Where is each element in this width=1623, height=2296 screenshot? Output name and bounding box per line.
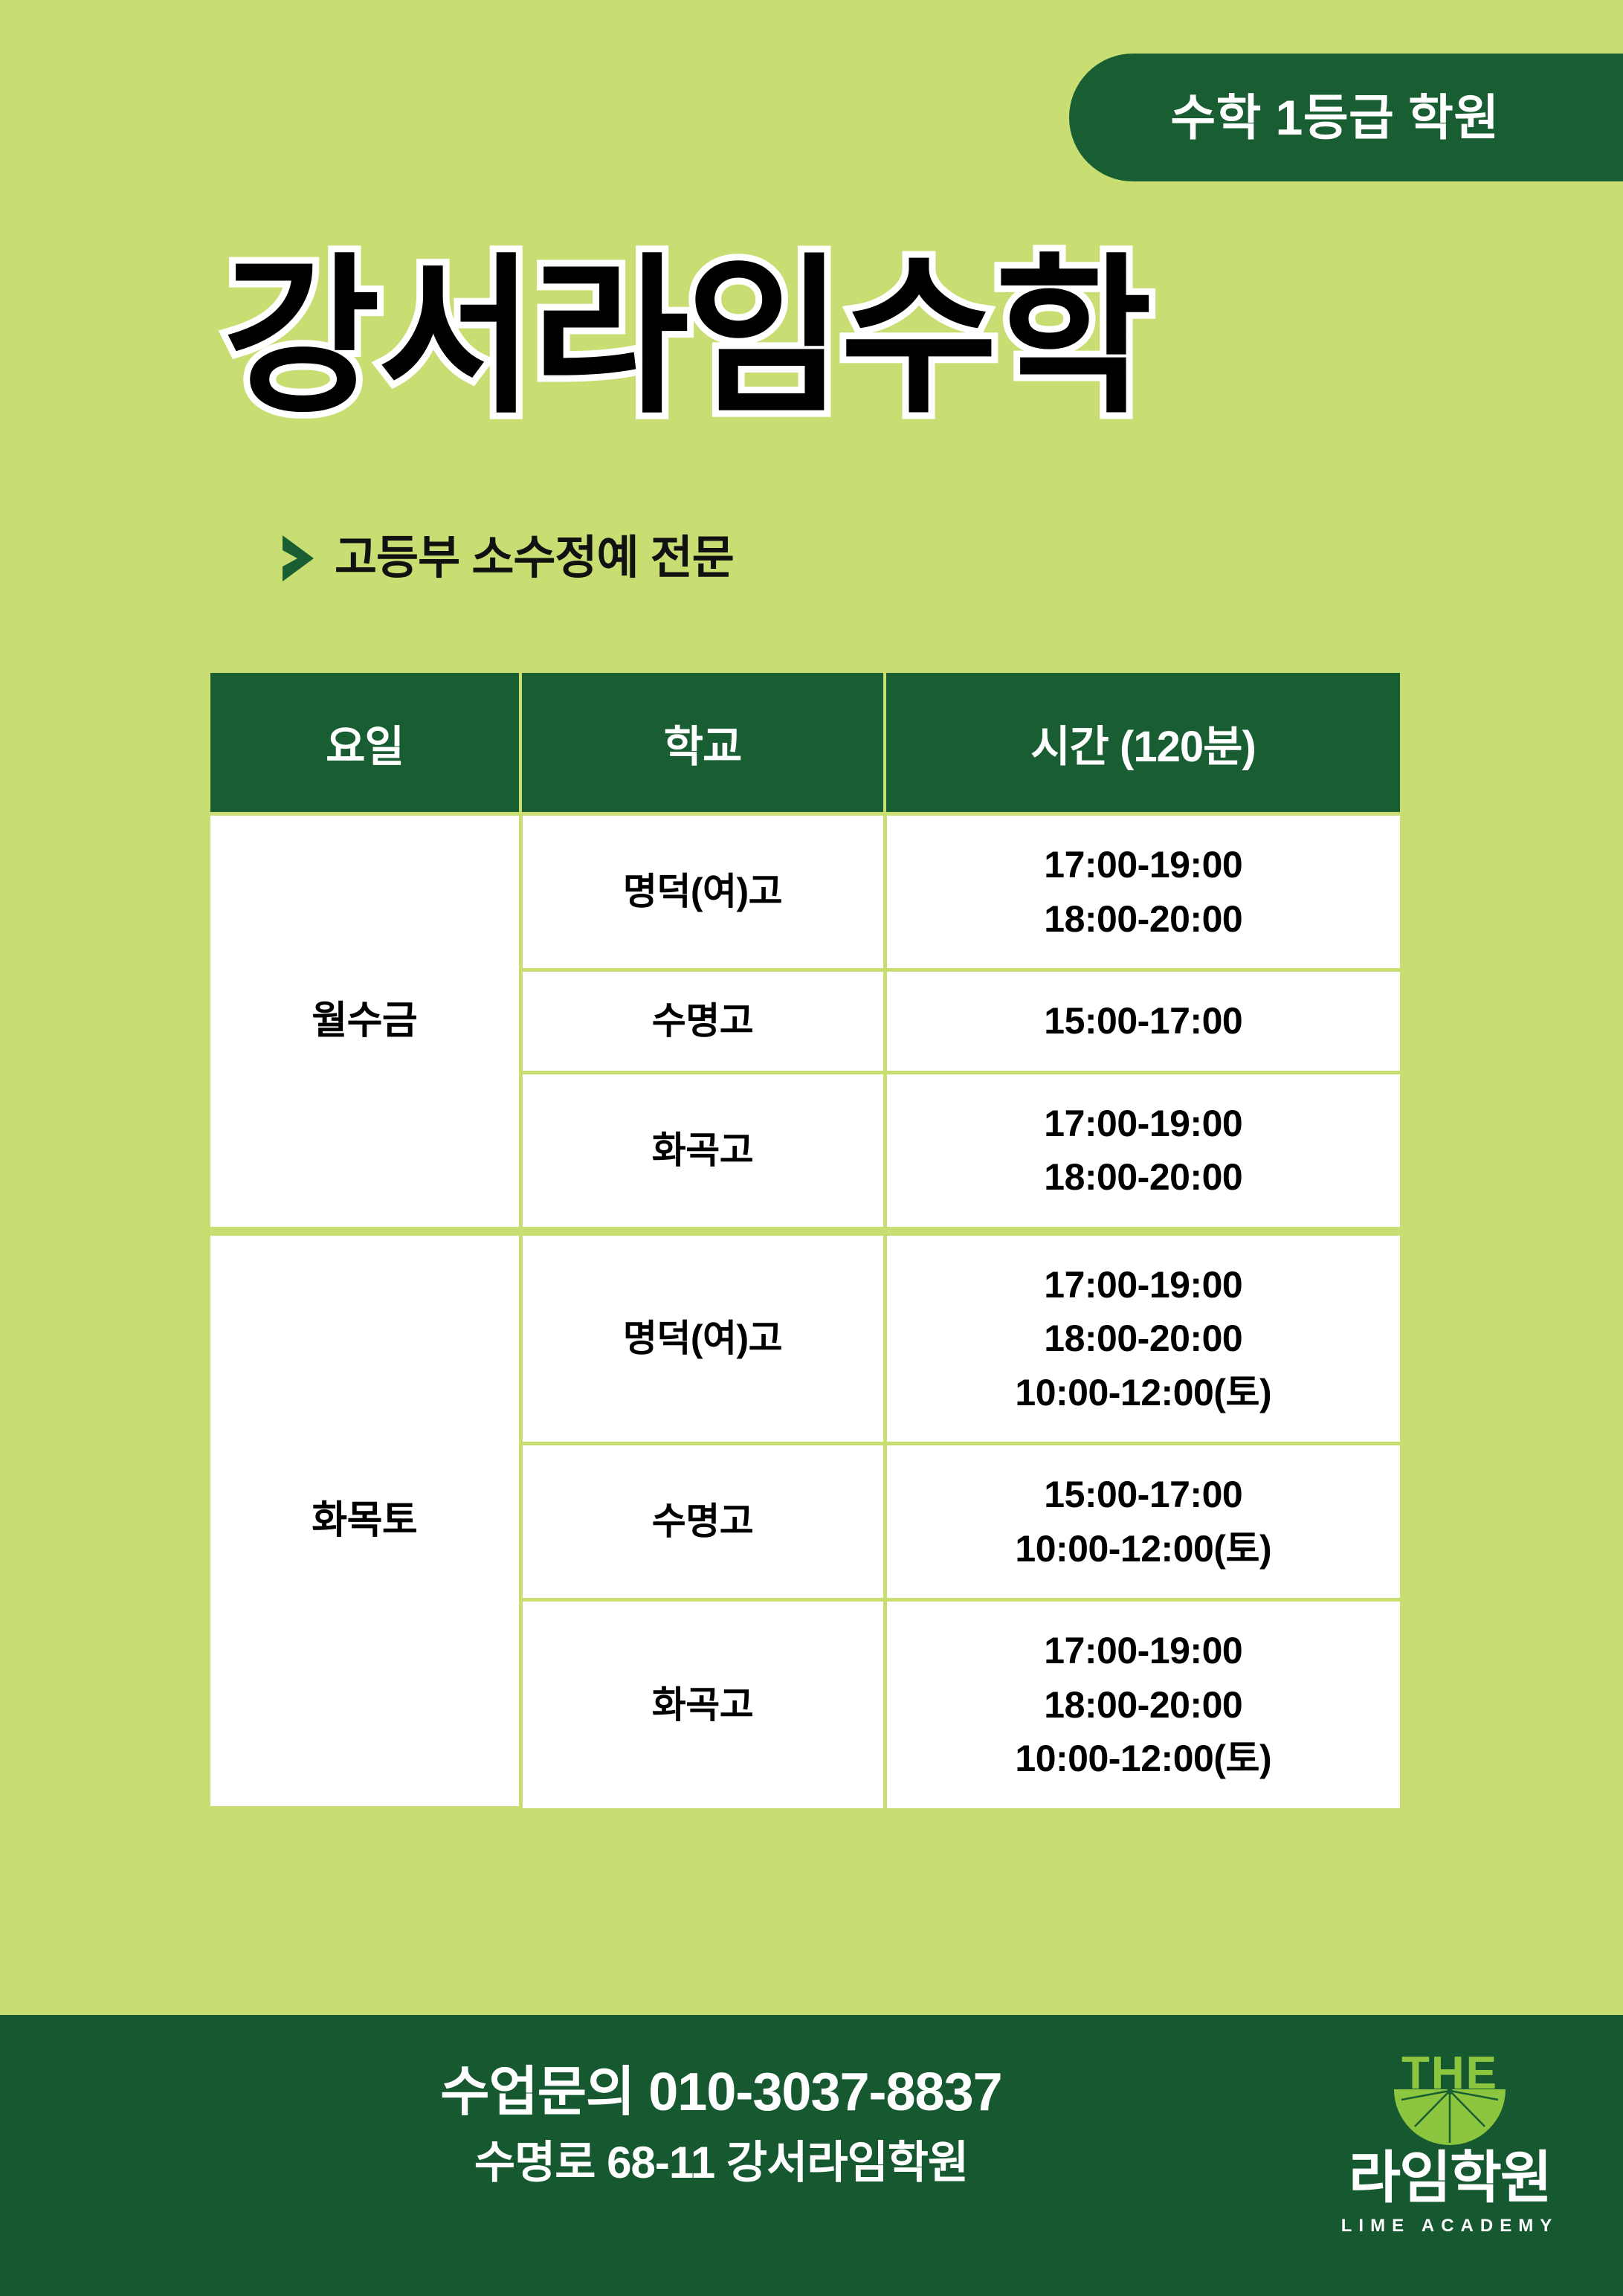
time-slot: 10:00-12:00(토)	[894, 1732, 1393, 1786]
time-slot: 15:00-17:00	[894, 1468, 1393, 1522]
cell-school: 수명고	[520, 1444, 885, 1600]
schedule-table: 요일 학교 시간 (120분) 월수금명덕(여)고17:00-19:0018:0…	[210, 673, 1400, 1810]
title-block: 강서라임수학	[223, 245, 1487, 483]
time-slot: 18:00-20:00	[894, 892, 1393, 947]
top-badge: 수학 1등급 학원	[1069, 54, 1623, 181]
chevron-right-icon	[281, 534, 315, 583]
cell-day: 월수금	[210, 814, 520, 1231]
cell-school: 화곡고	[520, 1072, 885, 1231]
cell-times: 17:00-19:0018:00-20:00	[885, 814, 1400, 970]
header-time: 시간 (120분)	[885, 673, 1400, 814]
logo-english-text: LIME ACADEMY	[1316, 2217, 1584, 2235]
contact-phone: 수업문의 010-3037-8837	[223, 2061, 1219, 2124]
header-school: 학교	[520, 673, 885, 814]
time-slot: 17:00-19:00	[894, 838, 1393, 892]
cell-school: 화곡고	[520, 1600, 885, 1808]
cell-times: 17:00-19:0018:00-20:0010:00-12:00(토)	[885, 1600, 1400, 1808]
contact-address: 수명로 68-11 강서라임학원	[223, 2136, 1219, 2190]
academy-title: 강서라임수학	[223, 245, 1487, 430]
cell-school: 명덕(여)고	[520, 1231, 885, 1444]
table-row: 월수금명덕(여)고17:00-19:0018:00-20:00	[210, 814, 1400, 970]
footer-bar: 수업문의 010-3037-8837 수명로 68-11 강서라임학원 THE	[0, 2015, 1623, 2296]
schedule-header-row: 요일 학교 시간 (120분)	[210, 673, 1400, 814]
time-slot: 17:00-19:00	[894, 1258, 1393, 1312]
top-badge-label: 수학 1등급 학원	[1170, 93, 1499, 142]
time-slot: 10:00-12:00(토)	[894, 1522, 1393, 1576]
cell-times: 17:00-19:0018:00-20:00	[885, 1072, 1400, 1231]
lime-slice-icon	[1394, 2089, 1506, 2150]
cell-school: 명덕(여)고	[520, 814, 885, 970]
cell-times: 15:00-17:0010:00-12:00(토)	[885, 1444, 1400, 1600]
cell-school: 수명고	[520, 970, 885, 1073]
academy-logo: THE 라임학원 LIME	[1316, 2051, 1584, 2259]
time-slot: 17:00-19:00	[894, 1624, 1393, 1678]
header-day: 요일	[210, 673, 520, 814]
table-row: 화목토명덕(여)고17:00-19:0018:00-20:0010:00-12:…	[210, 1231, 1400, 1444]
schedule-body: 월수금명덕(여)고17:00-19:0018:00-20:00수명고15:00-…	[210, 814, 1400, 1808]
time-slot: 18:00-20:00	[894, 1150, 1393, 1205]
time-slot: 17:00-19:00	[894, 1097, 1393, 1151]
footer-contact-block: 수업문의 010-3037-8837 수명로 68-11 강서라임학원	[223, 2061, 1219, 2190]
cell-day: 화목토	[210, 1231, 520, 1808]
time-slot: 18:00-20:00	[894, 1678, 1393, 1732]
subtitle-row: 고등부 소수정예 전문	[281, 534, 734, 583]
time-slot: 10:00-12:00(토)	[894, 1366, 1393, 1420]
logo-mark: THE	[1316, 2051, 1584, 2146]
poster-root: 수학 1등급 학원 강서라임수학 고등부 소수정예 전문 요일 학교 시간 (1…	[0, 0, 1623, 2296]
logo-korean-text: 라임학원	[1316, 2150, 1584, 2207]
cell-times: 15:00-17:00	[885, 970, 1400, 1073]
subtitle-label: 고등부 소수정예 전문	[335, 535, 734, 581]
time-slot: 15:00-17:00	[894, 994, 1393, 1048]
time-slot: 18:00-20:00	[894, 1312, 1393, 1366]
cell-times: 17:00-19:0018:00-20:0010:00-12:00(토)	[885, 1231, 1400, 1444]
